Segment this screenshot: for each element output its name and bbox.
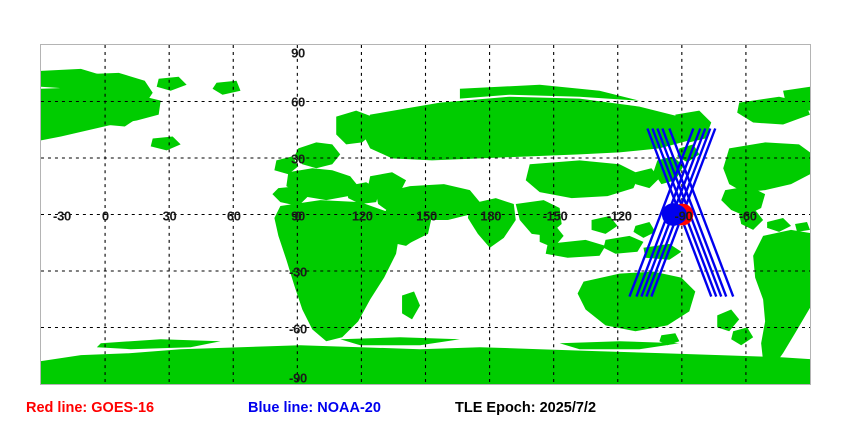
lat-label-neg90: -90 xyxy=(289,372,307,385)
legend-tle-epoch: TLE Epoch: 2025/7/2 xyxy=(455,396,596,420)
legend: Red line: GOES-16 Blue line: NOAA-20 TLE… xyxy=(0,396,850,420)
lon-label-0: 0 xyxy=(102,209,109,222)
legend-red-line-goes16: Red line: GOES-16 xyxy=(26,396,154,420)
lat-label-neg60: -60 xyxy=(289,323,307,336)
legend-blue-line-noaa20: Blue line: NOAA-20 xyxy=(248,396,381,420)
lon-label-neg30: -30 xyxy=(53,209,71,222)
lon-label-30: 30 xyxy=(163,209,177,222)
lon-label-90: 90 xyxy=(291,209,305,222)
lat-label-90: 90 xyxy=(291,47,305,60)
lat-label-30: 30 xyxy=(291,152,305,165)
lon-label-neg90: -90 xyxy=(675,209,693,222)
lon-label-180: 180 xyxy=(480,209,501,222)
lat-label-neg30: -30 xyxy=(289,266,307,279)
lon-label-60: 60 xyxy=(227,209,241,222)
lon-label-neg120: -120 xyxy=(607,209,632,222)
lon-label-120: 120 xyxy=(352,209,373,222)
map-frame[interactable]: 90 60 30 0 -30 -60 -90 -30 0 30 60 90 12… xyxy=(40,44,811,385)
lon-label-neg60: -60 xyxy=(739,209,757,222)
lat-label-60: 60 xyxy=(291,95,305,108)
lon-label-150: 150 xyxy=(416,209,437,222)
satellite-track-map-page: 90 60 30 0 -30 -60 -90 -30 0 30 60 90 12… xyxy=(0,0,850,425)
lon-label-neg150: -150 xyxy=(543,209,568,222)
